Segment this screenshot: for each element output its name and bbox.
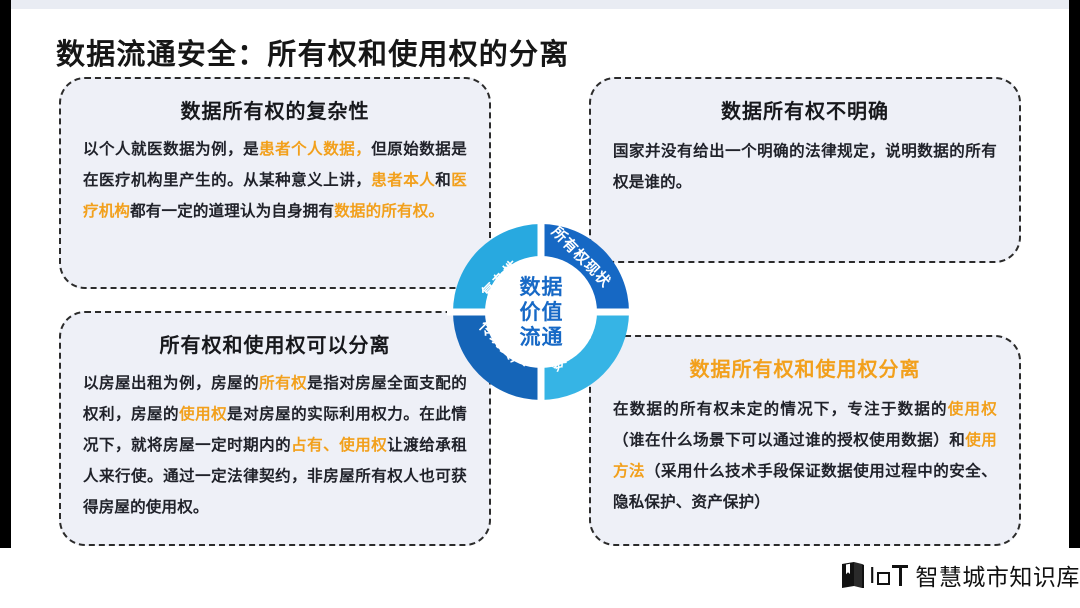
body-text-run: 在数据的所有权未定的情况下，专注于数据的 <box>613 401 948 418</box>
body-text-run: 国家并没有给出一个明确的法律规定，说明数据的所有权是谁的。 <box>613 143 997 191</box>
highlighted-term: 使用权 <box>179 406 227 423</box>
body-text-run: 和 <box>435 172 451 189</box>
card-title-top-left: 数据所有权的复杂性 <box>61 95 489 124</box>
card-body-bottom-left: 以房屋出租为例，房屋的所有权是指对房屋全面支配的权利，房屋的使用权是对房屋的实际… <box>61 368 489 523</box>
card-data-ownership-usage-separation: 数据所有权和使用权分离 在数据的所有权未定的情况下，专注于数据的使用权（谁在什么… <box>589 335 1021 546</box>
central-donut-diagram: 复杂性 所有权现状 传统资产 数据资产 数价流 据值通 <box>447 218 635 406</box>
footer-logo: I 智慧城市知识库 <box>840 558 1080 592</box>
highlighted-term: 所有权 <box>259 375 307 392</box>
card-body-top-right: 国家并没有给出一个明确的法律规定，说明数据的所有权是谁的。 <box>591 136 1019 198</box>
body-text-run: 都有一定的道理认为自身拥有 <box>130 203 334 220</box>
logo-letter-t <box>892 564 908 586</box>
body-text-run: （谁在什么场景下可以通过谁的授权使用数据）和 <box>613 432 965 449</box>
donut-svg <box>447 218 635 406</box>
book-icon <box>840 561 866 589</box>
card-title-bottom-right: 数据所有权和使用权分离 <box>591 353 1019 382</box>
slide-surface: 数据流通安全：所有权和使用权的分离 数据所有权的复杂性 以个人就医数据为例，是患… <box>11 9 1069 548</box>
card-data-ownership-unclear: 数据所有权不明确 国家并没有给出一个明确的法律规定，说明数据的所有权是谁的。 <box>589 77 1021 263</box>
card-title-top-right: 数据所有权不明确 <box>591 95 1019 124</box>
logo-iot-letters: I <box>869 564 908 587</box>
highlighted-term: 使用权 <box>948 401 997 418</box>
logo-brand-text: 智慧城市知识库 <box>915 558 1080 592</box>
highlighted-term: 患者本人 <box>371 172 435 189</box>
slide-root: 数据流通安全：所有权和使用权的分离 数据所有权的复杂性 以个人就医数据为例，是患… <box>0 0 1080 608</box>
highlighted-term: 患者个人数据， <box>259 141 371 158</box>
logo-letter-i: I <box>869 564 875 587</box>
logo-letter-o <box>877 572 890 585</box>
donut-hole <box>485 256 597 368</box>
page-title: 数据流通安全：所有权和使用权的分离 <box>56 31 569 73</box>
card-title-bottom-left: 所有权和使用权可以分离 <box>61 329 489 358</box>
letterbox-bar-right <box>1069 0 1080 548</box>
highlighted-term: 数据的所有权。 <box>334 203 444 220</box>
card-body-top-left: 以个人就医数据为例，是患者个人数据，但原始数据是在医疗机构里产生的。从某种意义上… <box>61 134 489 227</box>
letterbox-bar-left <box>0 0 11 548</box>
card-body-bottom-right: 在数据的所有权未定的情况下，专注于数据的使用权（谁在什么场景下可以通过谁的授权使… <box>591 394 1019 518</box>
highlighted-term: 占有、使用权 <box>291 437 387 454</box>
card-data-ownership-complexity: 数据所有权的复杂性 以个人就医数据为例，是患者个人数据，但原始数据是在医疗机构里… <box>59 77 491 289</box>
body-text-run: 以房屋出租为例，房屋的 <box>83 375 259 392</box>
body-text-run: 以个人就医数据为例，是 <box>83 141 259 158</box>
body-text-run: （采用什么技术手段保证数据使用过程中的安全、隐私保护、资产保护） <box>613 463 997 511</box>
card-ownership-usage-separable: 所有权和使用权可以分离 以房屋出租为例，房屋的所有权是指对房屋全面支配的权利，房… <box>59 311 491 546</box>
top-strip <box>11 0 1069 9</box>
